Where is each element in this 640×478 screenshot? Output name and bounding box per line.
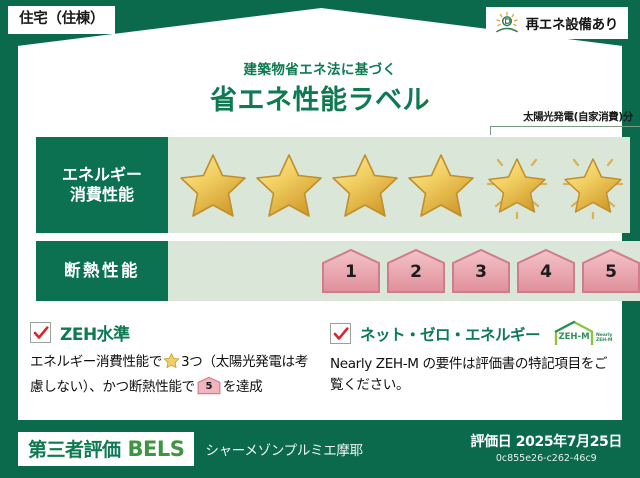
star-filled xyxy=(328,148,402,222)
star-filled xyxy=(404,148,478,222)
energy-label-line-2: 消費性能 xyxy=(70,185,134,205)
mini-grade-badge: 5 xyxy=(197,376,221,395)
property-name: シャーメゾンプルミエ摩耶 xyxy=(205,439,362,459)
energy-performance-label: 住宅（住棟） 再エネ設備あり 建築物省エネ法に基づく 省エネ性能 xyxy=(0,0,640,478)
criteria-zeh-header: ZEH水準 xyxy=(30,320,320,345)
grade-badge: 1 xyxy=(320,247,382,295)
insulation-performance-label-box: 断熱性能 xyxy=(36,241,168,301)
grade-value: 1 xyxy=(320,264,382,281)
evaluation-id: 0c855e26-c262-46c9 xyxy=(471,453,622,464)
energy-stars-area: 太陽光発電(自家消費)分 xyxy=(168,137,630,233)
energy-performance-label-box: エネルギー 消費性能 xyxy=(36,137,168,233)
footer-bar: 第三者評価 BELS シャーメゾンプルミエ摩耶 評価日 2025年7月25日 0… xyxy=(0,420,640,478)
criteria-nze-title: ネット・ゼロ・エネルギー xyxy=(360,323,540,345)
insulation-performance-row: 断熱性能 1 xyxy=(36,241,604,301)
criteria-zeh-text-1: エネルギー消費性能で xyxy=(30,354,162,370)
grade-value: 5 xyxy=(580,264,640,281)
grade-scale: 1 2 3 4 5 xyxy=(168,247,640,295)
criteria-nze-description: Nearly ZEH-M の要件は評価書の特記項目をご覧ください。 xyxy=(330,354,618,395)
bels-label-en: BELS xyxy=(128,437,185,461)
criteria-zeh-text-4: を達成 xyxy=(223,379,263,395)
grade-badge: 5 xyxy=(580,247,640,295)
renewable-energy-chip: 再エネ設備あり xyxy=(486,7,628,39)
criteria-zeh-text-2: 3つ（太陽光発電 xyxy=(181,354,282,370)
zeh-m-logo-sub: Nearly ZEH-M xyxy=(596,334,612,347)
energy-label-line-1: エネルギー xyxy=(62,165,142,185)
evaluation-info: 評価日 2025年7月25日 0c855e26-c262-46c9 xyxy=(471,434,622,464)
checkbox-checked-icon xyxy=(30,322,51,343)
criteria-net-zero-energy: ネット・ゼロ・エネルギー ZEH-M Nearly ZEH-M Nearly Z… xyxy=(330,320,618,395)
star-filled xyxy=(252,148,326,222)
grade-value: 4 xyxy=(515,264,577,281)
zeh-m-sub-line-2: ZEH-M xyxy=(596,338,612,343)
grade-value: 2 xyxy=(385,264,447,281)
evaluation-date: 評価日 2025年7月25日 xyxy=(471,434,622,451)
energy-performance-row: エネルギー 消費性能 xyxy=(36,137,604,233)
criteria-zeh-standard: ZEH水準 エネルギー消費性能で 3つ（太陽光発電は考慮しない）、かつ断熱性能で… xyxy=(30,320,320,397)
sun-solar-icon xyxy=(494,11,520,35)
zeh-m-logo-icon: ZEH-M Nearly ZEH-M xyxy=(553,320,612,347)
bels-label-ja: 第三者評価 xyxy=(28,435,121,462)
label-subtitle: 建築物省エネ法に基づく xyxy=(0,58,640,78)
checkbox-checked-icon xyxy=(330,323,351,344)
grade-badge: 2 xyxy=(385,247,447,295)
renewable-chip-label: 再エネ設備あり xyxy=(526,13,618,33)
grade-badge: 4 xyxy=(515,247,577,295)
star-rating xyxy=(168,148,630,222)
mini-star-icon xyxy=(163,352,180,376)
solar-annotation-bracket xyxy=(490,126,640,135)
grade-badge: 3 xyxy=(450,247,512,295)
star-filled xyxy=(176,148,250,222)
grade-value: 3 xyxy=(450,264,512,281)
bels-certification-chip: 第三者評価 BELS xyxy=(18,432,194,466)
label-title: 省エネ性能ラベル xyxy=(0,78,640,117)
star-solar xyxy=(556,148,630,222)
housing-type-chip: 住宅（住棟） xyxy=(8,6,115,34)
criteria-zeh-title: ZEH水準 xyxy=(60,320,130,345)
mini-grade-value: 5 xyxy=(197,382,221,392)
criteria-zeh-description: エネルギー消費性能で 3つ（太陽光発電は考慮しない）、かつ断熱性能で 5 を達成 xyxy=(30,352,320,397)
insulation-grades-area: 1 2 3 4 5 xyxy=(168,241,640,301)
svg-text:ZEH-M: ZEH-M xyxy=(558,332,589,342)
star-solar xyxy=(480,148,554,222)
criteria-nze-header: ネット・ゼロ・エネルギー ZEH-M Nearly ZEH-M xyxy=(330,320,618,347)
